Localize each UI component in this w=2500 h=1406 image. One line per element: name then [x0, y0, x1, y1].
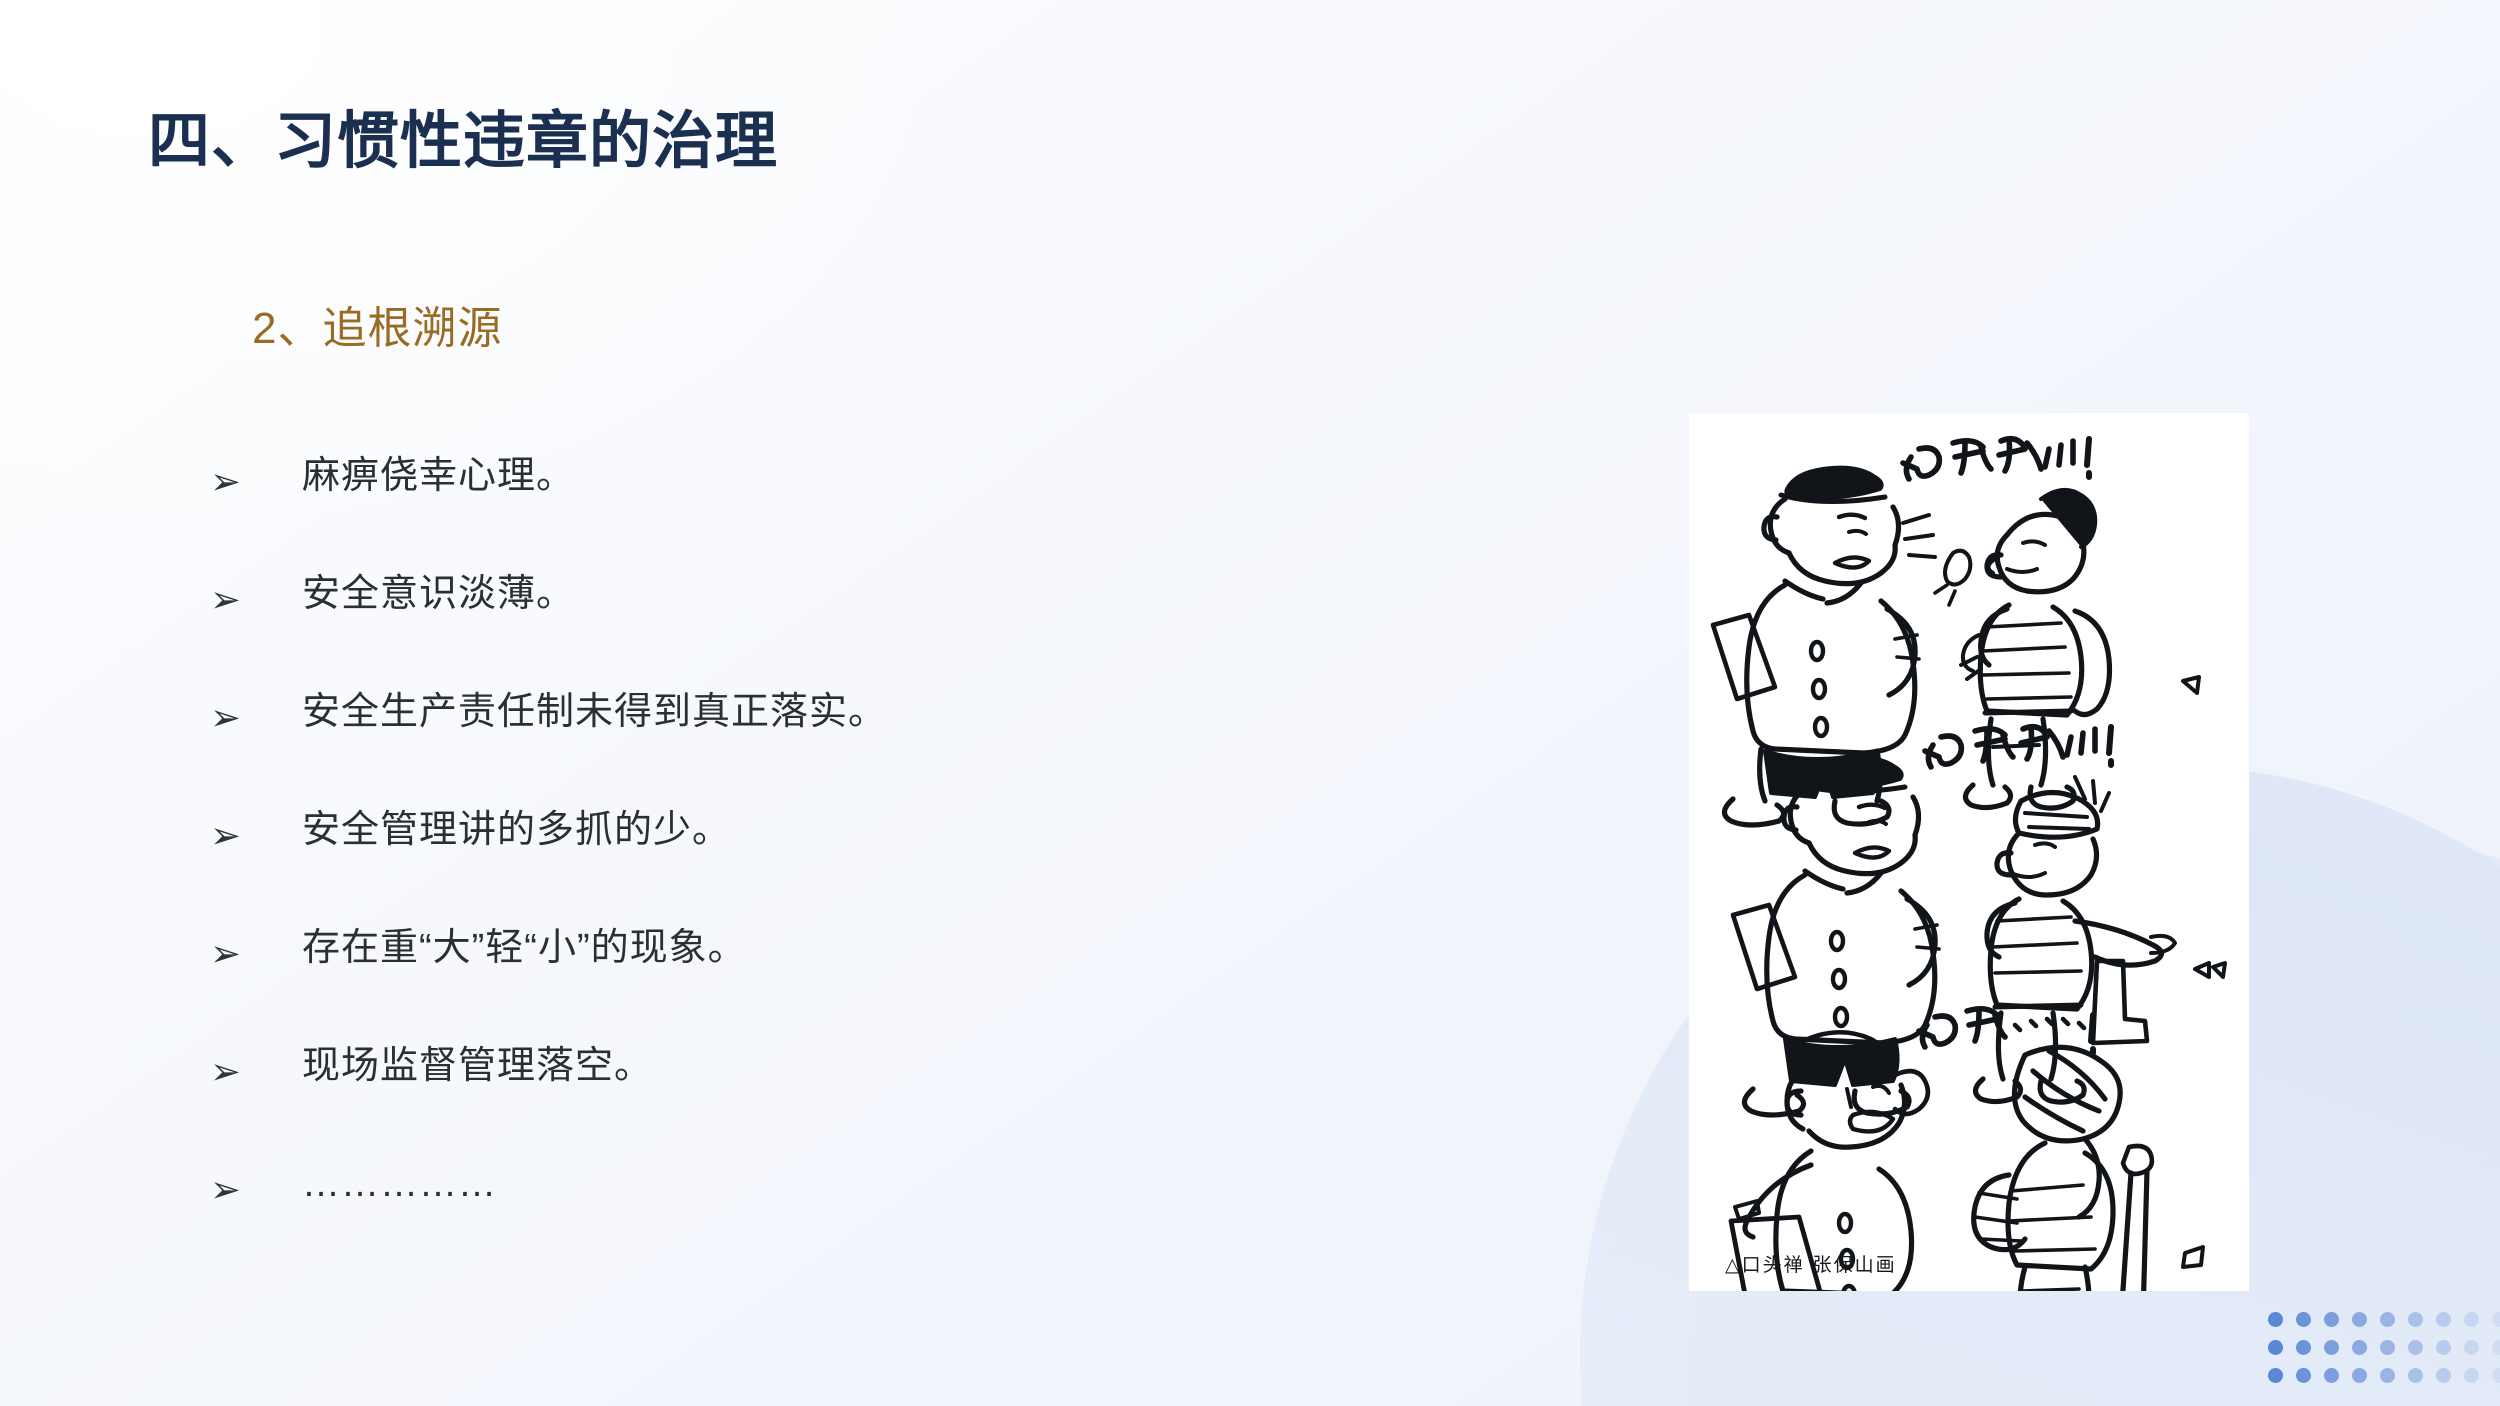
decorative-dot — [2268, 1340, 2283, 1355]
section-subtitle: 2、追根溯源 — [252, 305, 502, 353]
decorative-dot — [2324, 1368, 2339, 1383]
decorative-dot — [2380, 1312, 2395, 1327]
arrow-bullet-icon: ➢ — [210, 573, 302, 618]
cartoon-caption: △口头禅 张保山画 — [1725, 1250, 1897, 1277]
bullet-item-label: 安全管理讲的多抓的少。 — [302, 809, 731, 853]
decorative-dot — [2492, 1368, 2500, 1383]
slide-canvas: 四、习惯性违章的治理 2、追根溯源 ➢麻痹侥幸心理。➢安全意识淡薄。➢安全生产责… — [0, 0, 2500, 1406]
bullet-item-label: 安全意识淡薄。 — [302, 573, 575, 617]
bullet-item: ➢麻痹侥幸心理。 — [210, 455, 1590, 573]
bullet-item-label: 存在重“大”轻“小”的现象。 — [302, 927, 747, 971]
decorative-dot — [2464, 1368, 2479, 1383]
decorative-dot — [2408, 1368, 2423, 1383]
bullet-item: ➢安全生产责任制未得到真正落实。 — [210, 691, 1590, 809]
arrow-bullet-icon: ➢ — [210, 1163, 302, 1208]
decorative-dot — [2464, 1340, 2479, 1355]
bullet-item: ➢安全管理讲的多抓的少。 — [210, 809, 1590, 927]
decorative-dot — [2268, 1312, 2283, 1327]
decorative-dot — [2296, 1312, 2311, 1327]
bullet-item: ➢存在重“大”轻“小”的现象。 — [210, 927, 1590, 1045]
bullet-item-label: 安全生产责任制未得到真正落实。 — [302, 691, 887, 735]
decorative-dot — [2492, 1340, 2500, 1355]
arrow-bullet-icon: ➢ — [210, 1045, 302, 1090]
decorative-dot — [2380, 1368, 2395, 1383]
decorative-dot — [2352, 1340, 2367, 1355]
decorative-dot — [2492, 1312, 2500, 1327]
cartoon-drawing — [1689, 413, 2249, 1291]
bullet-item-label: 现场监督管理落空。 — [302, 1045, 653, 1089]
decorative-dot — [2296, 1340, 2311, 1355]
bullet-list: ➢麻痹侥幸心理。➢安全意识淡薄。➢安全生产责任制未得到真正落实。➢安全管理讲的多… — [210, 455, 1590, 1281]
arrow-bullet-icon: ➢ — [210, 809, 302, 854]
decorative-dot — [2380, 1340, 2395, 1355]
page-title: 四、习惯性违章的治理 — [148, 108, 778, 176]
decorative-dot — [2352, 1312, 2367, 1327]
bullet-item: ➢…………… — [210, 1163, 1590, 1281]
decorative-dot — [2352, 1368, 2367, 1383]
decorative-dot — [2436, 1368, 2451, 1383]
bullet-item: ➢安全意识淡薄。 — [210, 573, 1590, 691]
safety-cartoon-image: △口头禅 张保山画 — [1689, 413, 2249, 1291]
arrow-bullet-icon: ➢ — [210, 927, 302, 972]
decorative-dot — [2436, 1340, 2451, 1355]
bullet-item-label: …………… — [302, 1163, 497, 1207]
decorative-dot — [2268, 1368, 2283, 1383]
bullet-item: ➢现场监督管理落空。 — [210, 1045, 1590, 1163]
decorative-dot — [2408, 1340, 2423, 1355]
decorative-dot — [2436, 1312, 2451, 1327]
arrow-bullet-icon: ➢ — [210, 691, 302, 736]
decorative-dot — [2324, 1312, 2339, 1327]
decorative-dot — [2324, 1340, 2339, 1355]
arrow-bullet-icon: ➢ — [210, 455, 302, 500]
decorative-dot — [2408, 1312, 2423, 1327]
dot-grid-decoration — [2268, 1312, 2500, 1396]
bullet-item-label: 麻痹侥幸心理。 — [302, 455, 575, 499]
decorative-dot — [2464, 1312, 2479, 1327]
decorative-dot — [2296, 1368, 2311, 1383]
